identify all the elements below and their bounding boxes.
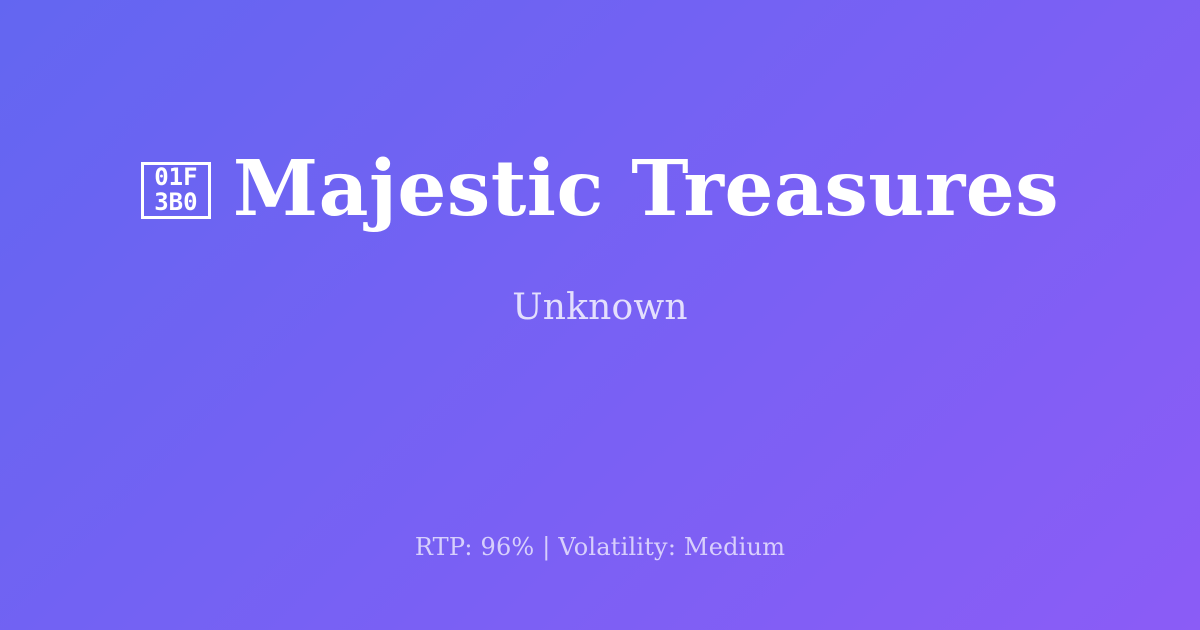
codepoint-bottom: 3B0 (154, 190, 197, 215)
codepoint-top: 01F (154, 165, 197, 190)
hero-block: 01F 3B0 Majestic Treasures Unknown (0, 0, 1200, 478)
title-row: 01F 3B0 Majestic Treasures (141, 149, 1059, 230)
game-meta-line: RTP: 96% | Volatility: Medium (0, 533, 1200, 562)
page-title: Majestic Treasures (233, 149, 1059, 230)
provider-name: Unknown (512, 286, 688, 329)
og-preview-card: 01F 3B0 Majestic Treasures Unknown RTP: … (0, 0, 1200, 630)
slot-machine-icon: 01F 3B0 (141, 162, 211, 219)
